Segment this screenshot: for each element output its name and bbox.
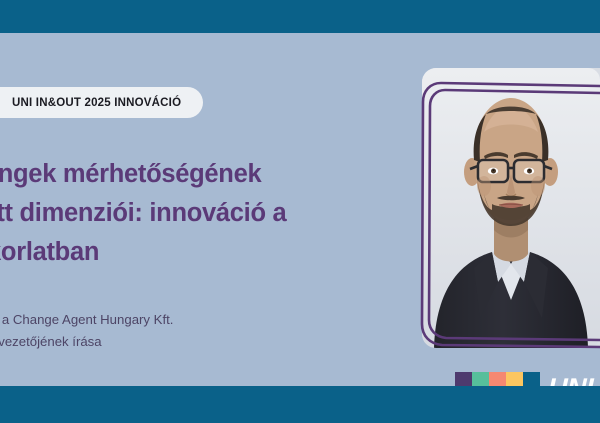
byline-line-1: s Dániel, a Change Agent Hungary Kft.: [0, 309, 374, 331]
logo-wordmark: UNI: [547, 372, 593, 386]
top-accent-bar: [0, 0, 600, 33]
bottom-accent-bar: [0, 386, 600, 423]
page-title: tréningek mérhetőségének rejtett dimenzi…: [0, 155, 364, 272]
uni-logo: UNI: [455, 372, 593, 386]
headline-line-3: gyakorlatban: [0, 233, 364, 272]
headline-line-1: tréningek mérhetőségének: [0, 155, 364, 194]
eyebrow-label: UNI IN&OUT 2025 INNOVÁCIÓ: [12, 97, 181, 109]
byline-line-2: onos-ügyvezetőjének írása: [0, 331, 374, 353]
logo-swatch-5: [523, 372, 540, 386]
logo-color-swatches: [455, 372, 540, 386]
logo-swatch-2: [472, 372, 489, 386]
byline: s Dániel, a Change Agent Hungary Kft. on…: [0, 309, 374, 353]
portrait-block: [405, 48, 600, 358]
headline-line-2: rejtett dimenziói: innováció a: [0, 194, 364, 233]
eyebrow-badge: UNI IN&OUT 2025 INNOVÁCIÓ: [0, 87, 203, 118]
uni-article-banner: UNI IN&OUT 2025 INNOVÁCIÓ tréningek mérh…: [0, 0, 600, 423]
author-photo: [422, 68, 600, 348]
logo-swatch-4: [506, 372, 523, 386]
banner-stage: UNI IN&OUT 2025 INNOVÁCIÓ tréningek mérh…: [0, 33, 600, 386]
logo-swatch-1: [455, 372, 472, 386]
logo-swatch-3: [489, 372, 506, 386]
author-role-suffix: , a Change Agent Hungary Kft.: [0, 312, 173, 327]
